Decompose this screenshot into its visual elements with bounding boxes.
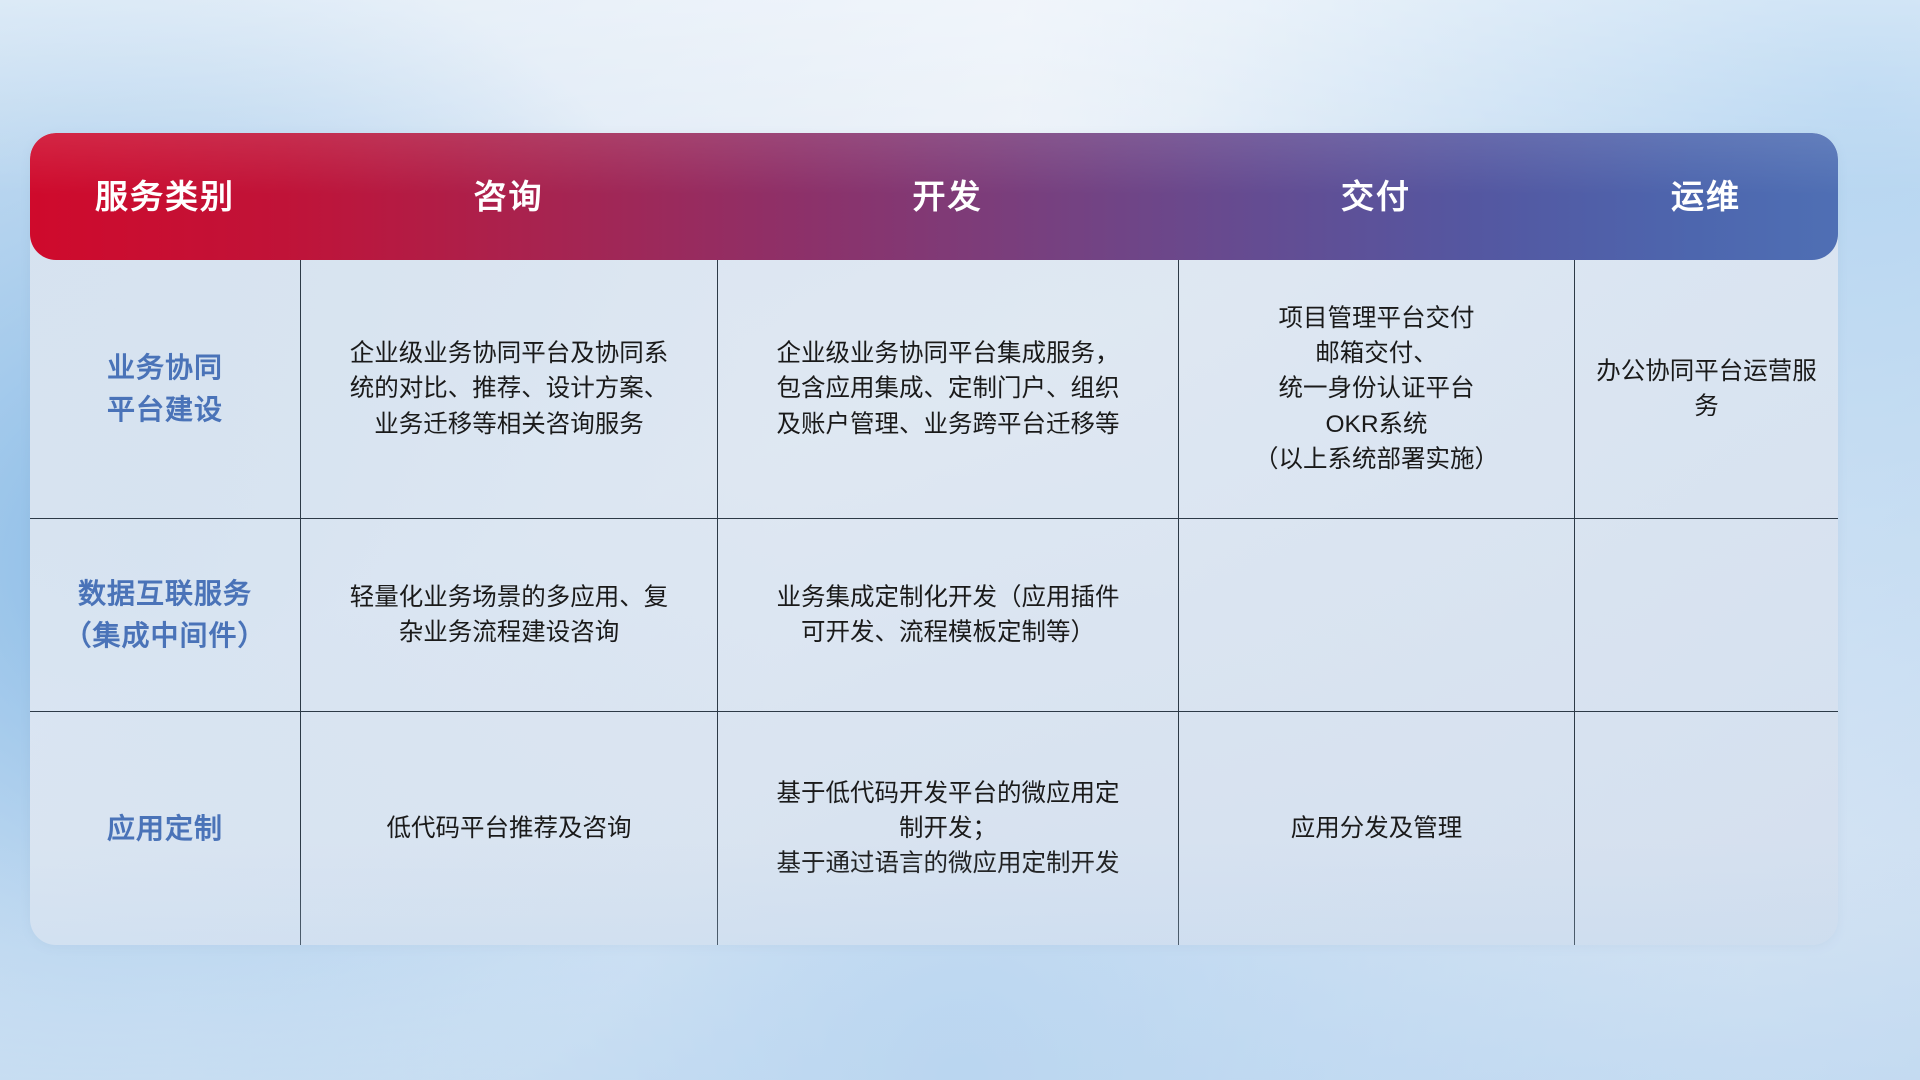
cell-consulting: 轻量化业务场景的多应用、复 杂业务流程建设咨询 <box>300 519 717 711</box>
column-header-delivery: 交付 <box>1178 180 1574 213</box>
table-header-row: 服务类别 咨询 开发 交付 运维 <box>30 133 1838 260</box>
cell-delivery <box>1178 519 1574 711</box>
column-header-category: 服务类别 <box>30 180 300 213</box>
table-row: 数据互联服务 （集成中间件） 轻量化业务场景的多应用、复 杂业务流程建设咨询 业… <box>30 518 1838 711</box>
cell-operations: 办公协同平台运营服务 <box>1574 260 1838 518</box>
cell-development: 基于低代码开发平台的微应用定 制开发； 基于通过语言的微应用定制开发 <box>717 712 1178 945</box>
cell-category: 应用定制 <box>30 712 300 945</box>
column-header-consulting: 咨询 <box>300 180 717 213</box>
cell-operations <box>1574 519 1838 711</box>
cell-category: 业务协同 平台建设 <box>30 260 300 518</box>
cell-delivery: 项目管理平台交付 邮箱交付、 统一身份认证平台 OKR系统 （以上系统部署实施） <box>1178 260 1574 518</box>
cell-operations <box>1574 712 1838 945</box>
slide-canvas: 服务类别 咨询 开发 交付 运维 业务协同 平台建设 企业级业务协同平台及协同系… <box>0 0 1920 1080</box>
cell-consulting: 企业级业务协同平台及协同系 统的对比、推荐、设计方案、 业务迁移等相关咨询服务 <box>300 260 717 518</box>
cell-development: 业务集成定制化开发（应用插件 可开发、流程模板定制等） <box>717 519 1178 711</box>
column-header-operations: 运维 <box>1574 180 1838 213</box>
column-header-development: 开发 <box>717 180 1178 213</box>
cell-category: 数据互联服务 （集成中间件） <box>30 519 300 711</box>
service-matrix-table: 服务类别 咨询 开发 交付 运维 业务协同 平台建设 企业级业务协同平台及协同系… <box>30 133 1838 945</box>
cell-development: 企业级业务协同平台集成服务， 包含应用集成、定制门户、组织 及账户管理、业务跨平… <box>717 260 1178 518</box>
cell-consulting: 低代码平台推荐及咨询 <box>300 712 717 945</box>
table-row: 业务协同 平台建设 企业级业务协同平台及协同系 统的对比、推荐、设计方案、 业务… <box>30 260 1838 518</box>
cell-delivery: 应用分发及管理 <box>1178 712 1574 945</box>
table-row: 应用定制 低代码平台推荐及咨询 基于低代码开发平台的微应用定 制开发； 基于通过… <box>30 711 1838 945</box>
table-body: 业务协同 平台建设 企业级业务协同平台及协同系 统的对比、推荐、设计方案、 业务… <box>30 260 1838 945</box>
